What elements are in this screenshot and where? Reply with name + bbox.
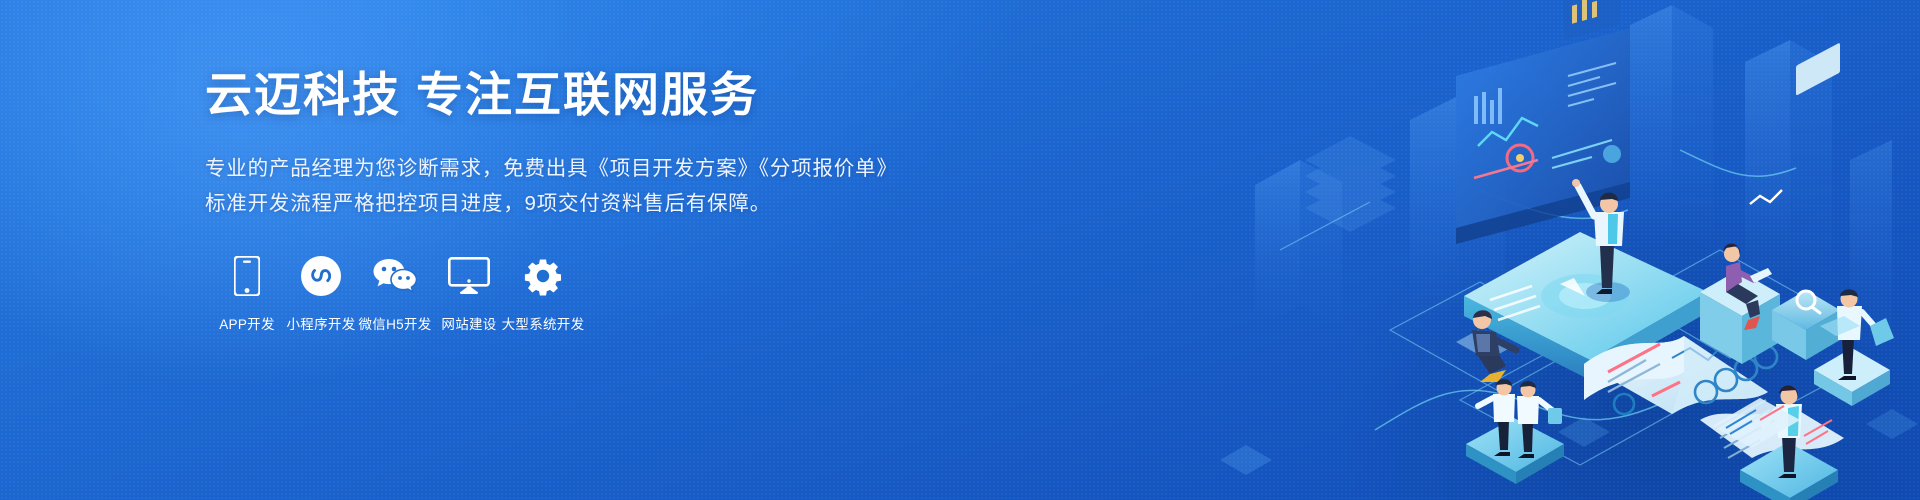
service-icon-row: APP开发 小程序开发 (210, 253, 905, 333)
promo-banner: 云迈科技 专注互联网服务 专业的产品经理为您诊断需求，免费出具《项目开发方案》《… (0, 0, 1920, 500)
wechat-icon (373, 253, 417, 299)
mini-program-icon (301, 253, 341, 299)
page-title: 云迈科技 专注互联网服务 (205, 66, 905, 125)
service-label-app: APP开发 (219, 313, 275, 333)
service-item-large-system[interactable]: 大型系统开发 (506, 253, 580, 333)
monitor-icon (448, 253, 490, 299)
banner-content: 云迈科技 专注互联网服务 专业的产品经理为您诊断需求，免费出具《项目开发方案》《… (205, 66, 905, 333)
service-item-website[interactable]: 网站建设 (432, 253, 506, 333)
service-label-wechat-h5: 微信H5开发 (358, 313, 431, 333)
service-label-website: 网站建设 (441, 313, 496, 333)
person-group-pad (1466, 379, 1564, 484)
service-label-large-system: 大型系统开发 (502, 313, 585, 333)
service-label-miniprogram: 小程序开发 (287, 313, 356, 333)
service-item-miniprogram[interactable]: 小程序开发 (284, 253, 358, 333)
gear-icon (523, 253, 563, 299)
service-item-app[interactable]: APP开发 (210, 253, 284, 333)
banner-subtitle: 专业的产品经理为您诊断需求，免费出具《项目开发方案》《分项报价单》 标准开发流程… (205, 151, 905, 222)
mobile-phone-icon (234, 253, 260, 299)
subtitle-line-2: 标准开发流程严格把控项目进度，9项交付资料售后有保障。 (205, 186, 905, 221)
subtitle-line-1: 专业的产品经理为您诊断需求，免费出具《项目开发方案》《分项报价单》 (205, 151, 905, 186)
isometric-illustration (1160, 0, 1920, 500)
service-item-wechat-h5[interactable]: 微信H5开发 (358, 253, 432, 333)
